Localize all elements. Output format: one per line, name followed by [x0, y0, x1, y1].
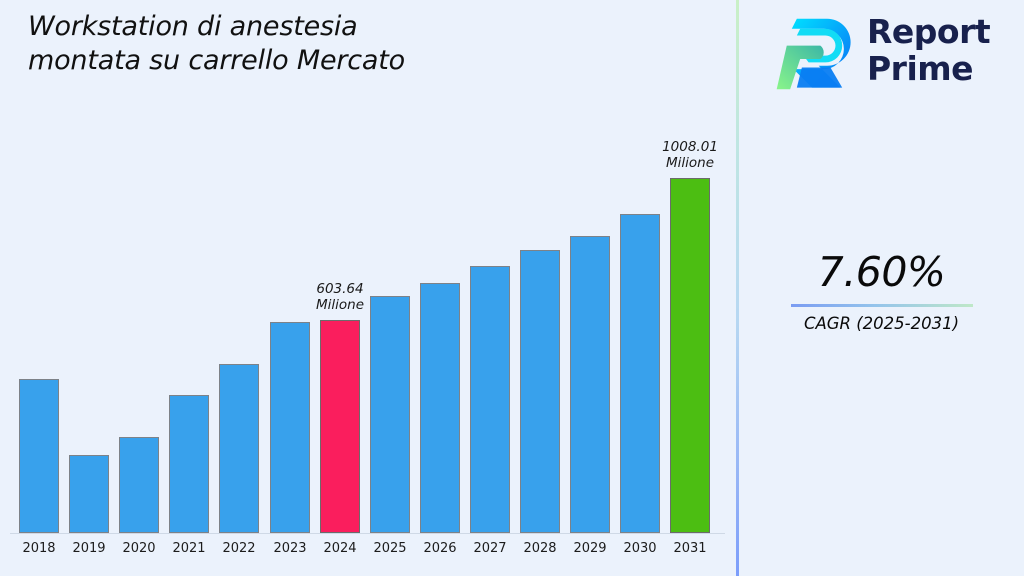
x-tick-2028: 2028 [515, 541, 565, 556]
bar-2022 [219, 364, 259, 533]
x-axis-line [10, 533, 725, 534]
x-tick-2024: 2024 [315, 541, 365, 556]
bar-2023 [270, 322, 310, 533]
cagr-caption: CAGR (2025-2031) [739, 314, 1024, 333]
cagr-divider-rule [791, 304, 973, 307]
logo-line-2: Prime [867, 51, 990, 88]
bar-2030 [620, 214, 660, 533]
report-prime-r-logo-icon [775, 12, 859, 96]
x-tick-2023: 2023 [265, 541, 315, 556]
x-tick-2029: 2029 [565, 541, 615, 556]
x-tick-2031: 2031 [665, 541, 715, 556]
x-tick-2018: 2018 [14, 541, 64, 556]
bar-2021 [169, 395, 209, 533]
bar-chart-plot-area: 2018201920202021202220232024603.64 Milio… [0, 0, 737, 576]
x-tick-2021: 2021 [164, 541, 214, 556]
x-tick-2026: 2026 [415, 541, 465, 556]
x-tick-2030: 2030 [615, 541, 665, 556]
bar-2029 [570, 236, 610, 533]
bar-2024 [320, 320, 360, 533]
x-tick-2025: 2025 [365, 541, 415, 556]
logo-line-1: Report [867, 14, 990, 51]
bar-2018 [19, 379, 59, 533]
bar-2028 [520, 250, 560, 533]
x-tick-2019: 2019 [64, 541, 114, 556]
bar-2026 [420, 283, 460, 533]
bar-2031 [670, 178, 710, 533]
cagr-value: 7.60% [739, 252, 1024, 293]
bar-2019 [69, 455, 109, 533]
bar-2025 [370, 296, 410, 533]
data-label-2031: 1008.01 Milione [643, 140, 737, 172]
x-tick-2022: 2022 [214, 541, 264, 556]
x-tick-2027: 2027 [465, 541, 515, 556]
chart-panel: Workstation di anestesia montata su carr… [0, 0, 737, 576]
x-tick-2020: 2020 [114, 541, 164, 556]
chart-page: Workstation di anestesia montata su carr… [0, 0, 1024, 576]
report-prime-wordmark: Report Prime [867, 14, 990, 88]
bar-2020 [119, 437, 159, 533]
summary-panel: Report Prime 7.60% CAGR (2025-2031) [739, 0, 1024, 576]
bar-2027 [470, 266, 510, 533]
cagr-block: 7.60% CAGR (2025-2031) [739, 252, 1024, 333]
report-prime-logo: Report Prime [775, 8, 1005, 100]
